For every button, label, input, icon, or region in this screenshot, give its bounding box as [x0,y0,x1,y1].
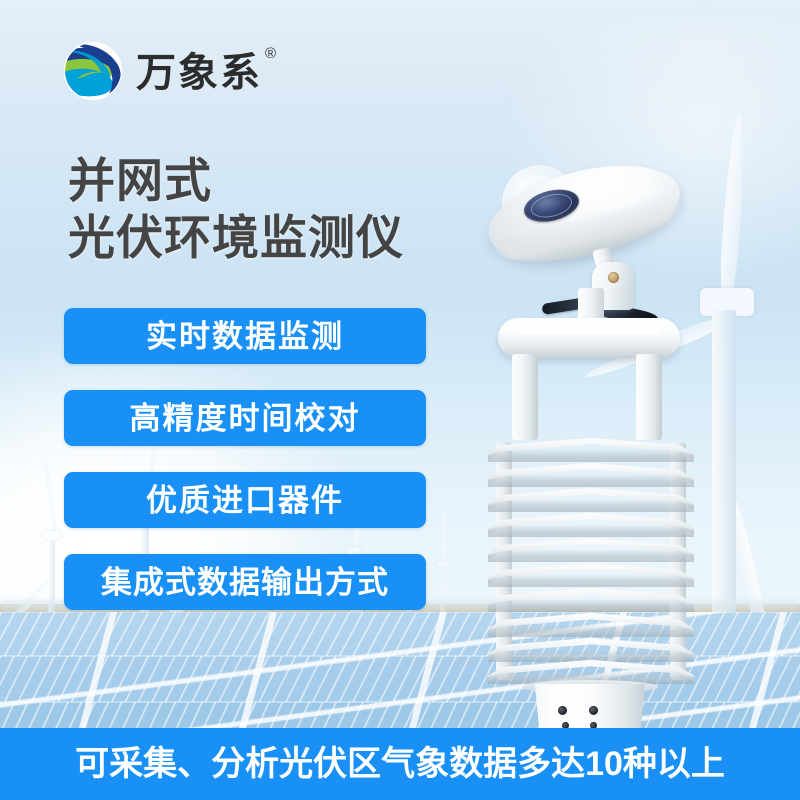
hinge-screw-icon [608,272,619,283]
crossbar-highlight [512,324,662,334]
vent-hole [589,706,598,715]
product-weather-station [470,140,730,700]
swirl-globe-logo-icon [62,40,124,102]
feature-badge-integrated-output[interactable]: 集成式数据输出方式 [64,554,426,610]
feature-badge-label: 集成式数据输出方式 [101,567,389,598]
brand-logo[interactable]: 万象系® [62,40,275,102]
headline-line-1: 并网式 [68,154,212,207]
brand-name: 万象系 [136,51,262,95]
vent-hole [558,706,567,715]
feature-badge-label: 优质进口器件 [146,485,344,516]
headline-line-2: 光伏环境监测仪 [68,209,498,266]
bottom-banner: 可采集、分析光伏区气象数据多达10种以上 [0,728,800,800]
feature-badge-label: 高精度时间校对 [130,403,361,434]
shield-support-post-left [512,354,538,440]
feature-badge-time-sync[interactable]: 高精度时间校对 [64,390,426,446]
brand-name-text: 万象系® [136,53,275,93]
feature-badge-realtime-monitoring[interactable]: 实时数据监测 [64,308,426,364]
turbine-blade [441,512,448,566]
registered-trademark-icon: ® [265,45,278,62]
page-title: 并网式 光伏环境监测仪 [68,152,498,267]
feature-badge-imported-components[interactable]: 优质进口器件 [64,472,426,528]
promo-poster: 万象系® 并网式 光伏环境监测仪 实时数据监测 高精度时间校对 优质进口器件 集… [0,0,800,800]
feature-badge-list: 实时数据监测 高精度时间校对 优质进口器件 集成式数据输出方式 [64,308,426,636]
bottom-banner-text: 可采集、分析光伏区气象数据多达10种以上 [75,747,725,781]
turbine-nacelle [43,531,61,540]
shield-support-post-right [636,354,662,440]
louvered-radiation-shield [488,436,694,688]
feature-badge-label: 实时数据监测 [146,321,344,352]
